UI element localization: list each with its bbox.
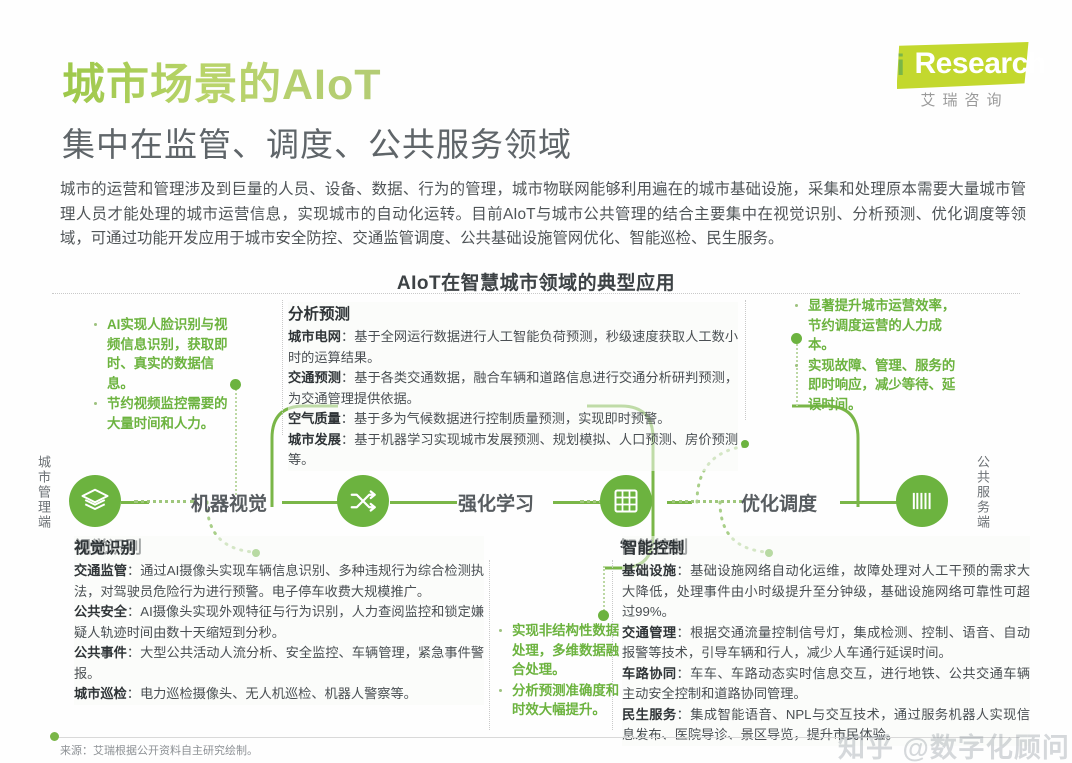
bullet-item: 分析预测准确度和时效大幅提升。 bbox=[497, 681, 622, 720]
box-row: 城市电网：基于全网运行数据进行人工智能负荷预测，秒级速度获取人工数小时的运算结果… bbox=[288, 327, 738, 368]
source-dot bbox=[50, 732, 59, 741]
row-text: 根据交通流量控制信号灯，集成检测、控制、语音、自动报警等技术，引导车辆和行人，减… bbox=[622, 625, 1030, 661]
node-layers[interactable] bbox=[69, 475, 121, 527]
divider-top bbox=[52, 293, 1020, 295]
bullet-item: 节约视频监控需要的大量时间和人力。 bbox=[92, 394, 232, 433]
box-analysis-prediction: 分析预测 城市电网：基于全网运行数据进行人工智能负荷预测，秒级速度获取人工数小时… bbox=[288, 302, 738, 471]
row-term: 城市巡检 bbox=[74, 686, 127, 701]
bullets-right: 显著提升城市运营效率，节约调度运营的人力成本。 实现故障、管理、服务的即时响应，… bbox=[793, 296, 958, 415]
node-barcode[interactable] bbox=[896, 475, 948, 527]
watermark: 知乎 @数字化顾问 bbox=[838, 726, 1072, 763]
leader-left-bullets bbox=[235, 385, 237, 495]
spine-label-reinforcement: 强化学习 bbox=[458, 489, 534, 516]
logo-i-letter: i bbox=[897, 49, 905, 83]
node-shuffle[interactable] bbox=[337, 475, 389, 527]
box-row: 空气质量：基于多为气候数据进行控制质量预测，实现即时预警。 bbox=[288, 409, 738, 430]
separator-center-right bbox=[612, 560, 613, 730]
row-text: 基于全网运行数据进行人工智能负荷预测，秒级速度获取人工数小时的运算结果。 bbox=[288, 329, 738, 365]
row-text: 通过AI摄像头实现车辆信息识别、多种违规行为综合检测执法，对驾驶员危险行为进行预… bbox=[74, 563, 484, 599]
row-term: 车路协同 bbox=[622, 666, 676, 681]
box-row: 城市发展：基于机器学习实现城市发展预测、规划模拟、人口预测、房价预测等。 bbox=[288, 430, 738, 471]
separator-left-center bbox=[489, 560, 490, 730]
leader-center-down bbox=[603, 566, 605, 614]
shuffle-icon bbox=[348, 486, 378, 516]
row-term: 交通管理 bbox=[622, 625, 676, 640]
layers-icon bbox=[80, 486, 110, 516]
bullets-left: AI实现人脸识别与视频信息识别，获取即时、真实的数据信息。 节约视频监控需要的大… bbox=[92, 315, 232, 434]
row-text: 基础设施网络自动化运维，故障处理对人工干预的需求大大降低，处理事件由小时级提升至… bbox=[622, 563, 1030, 619]
bullets-center: 实现非结构性数据处理，多维数据融合处理。 分析预测准确度和时效大幅提升。 bbox=[497, 621, 622, 721]
row-text: 电力巡检摄像头、无人机巡检、机器人警察等。 bbox=[140, 686, 417, 701]
row-text: 基于机器学习实现城市发展预测、规划模拟、人口预测、房价预测等。 bbox=[288, 432, 738, 468]
row-text: AI摄像头实现外观特征与行为识别，人力查阅监控和锁定嫌疑人轨迹时间由数十天缩短到… bbox=[74, 604, 484, 640]
logo-chinese-name: 艾瑞咨询 bbox=[901, 89, 1029, 110]
bullet-item: 实现故障、管理、服务的即时响应，减少等待、延误时间。 bbox=[793, 356, 958, 415]
row-text: 车车、车路动态实时信息交互，进行地铁、公共交通车辆主动安全控制和道路协同管理。 bbox=[622, 666, 1030, 702]
box-title: 视觉识别 bbox=[74, 536, 484, 558]
bullet-item: 实现非结构性数据处理，多维数据融合处理。 bbox=[497, 621, 622, 680]
row-term: 基础设施 bbox=[622, 563, 676, 578]
diagram-title: AIoT在智慧城市领域的典型应用 bbox=[0, 268, 1072, 295]
row-term: 交通监管 bbox=[74, 563, 127, 578]
row-term: 交通预测 bbox=[288, 370, 341, 385]
row-text: 基于各类交通数据，融合车辆和道路信息进行交通分析研判预测，为交通管理提供依据。 bbox=[288, 370, 738, 406]
bullet-item: AI实现人脸识别与视频信息识别，获取即时、真实的数据信息。 bbox=[92, 315, 232, 393]
box-intelligent-control: 智能控制 基础设施：基础设施网络自动化运维，故障处理对人工干预的需求大大降低，处… bbox=[622, 536, 1030, 746]
box-row: 车路协同：车车、车路动态实时信息交互，进行地铁、公共交通车辆主动安全控制和道路协… bbox=[622, 664, 1030, 705]
side-label-left: 城市管理端 bbox=[36, 455, 51, 530]
box-row: 基础设施：基础设施网络自动化运维，故障处理对人工干预的需求大大降低，处理事件由小… bbox=[622, 561, 1030, 623]
box-row: 公共安全：AI摄像头实现外观特征与行为识别，人力查阅监控和锁定嫌疑人轨迹时间由数… bbox=[74, 602, 484, 643]
box-row: 公共事件：大型公共活动人流分析、安全监控、车辆管理，紧急事件警报。 bbox=[74, 643, 484, 684]
logo-wordmark: Research bbox=[915, 47, 1035, 81]
box-vision-recognition: 视觉识别 交通监管：通过AI摄像头实现车辆信息识别、多种违规行为综合检测执法，对… bbox=[74, 536, 484, 705]
bullet-item: 显著提升城市运营效率，节约调度运营的人力成本。 bbox=[793, 296, 958, 355]
intro-paragraph: 城市的运营和管理涉及到巨量的人员、设备、数据、行为的管理，城市物联网能够利用遍在… bbox=[60, 178, 1026, 252]
iresearch-logo: i Research 艾瑞咨询 bbox=[879, 42, 1029, 112]
row-term: 城市电网 bbox=[288, 329, 341, 344]
box-row: 交通监管：通过AI摄像头实现车辆信息识别、多种违规行为综合检测执法，对驾驶员危险… bbox=[74, 561, 484, 602]
box-title: 智能控制 bbox=[622, 536, 1030, 558]
separator-analysis-right bbox=[745, 300, 746, 420]
spine-label-machine-vision: 机器视觉 bbox=[191, 489, 267, 516]
infographic-page: i Research 艾瑞咨询 城市场景的AIoT 集中在监管、调度、公共服务领… bbox=[0, 0, 1072, 763]
spine-segment-c bbox=[390, 501, 457, 504]
dot-analysis-arc bbox=[741, 440, 749, 448]
row-term: 民生服务 bbox=[622, 707, 677, 722]
separator-analysis-left bbox=[282, 300, 283, 435]
box-title: 分析预测 bbox=[288, 302, 738, 324]
row-term: 公共安全 bbox=[74, 604, 127, 619]
dot-center-down bbox=[598, 610, 609, 621]
source-note: 来源：艾瑞根据公开资料自主研究绘制。 bbox=[60, 742, 258, 758]
spine-dotted-a bbox=[134, 500, 194, 503]
spine-label-optimization: 优化调度 bbox=[741, 489, 817, 516]
row-term: 城市发展 bbox=[288, 432, 341, 447]
barcode-icon bbox=[908, 487, 936, 515]
row-term: 公共事件 bbox=[74, 645, 127, 660]
row-text: 大型公共活动人流分析、安全监控、车辆管理，紧急事件警报。 bbox=[74, 645, 484, 681]
side-label-right: 公共服务端 bbox=[975, 455, 990, 530]
row-text: 基于多为气候数据进行控制质量预测，实现即时预警。 bbox=[354, 411, 671, 426]
page-title: 城市场景的AIoT bbox=[62, 50, 382, 112]
page-subtitle: 集中在监管、调度、公共服务领域 bbox=[62, 118, 572, 166]
box-row: 交通管理：根据交通流量控制信号灯，集成检测、控制、语音、自动报警等技术，引导车辆… bbox=[622, 623, 1030, 664]
box-row: 城市巡检：电力巡检摄像头、无人机巡检、机器人警察等。 bbox=[74, 684, 484, 705]
box-row: 交通预测：基于各类交通数据，融合车辆和道路信息进行交通分析研判预测，为交通管理提… bbox=[288, 368, 738, 409]
grid-icon bbox=[612, 487, 640, 515]
node-grid[interactable] bbox=[600, 475, 652, 527]
row-term: 空气质量 bbox=[288, 411, 341, 426]
